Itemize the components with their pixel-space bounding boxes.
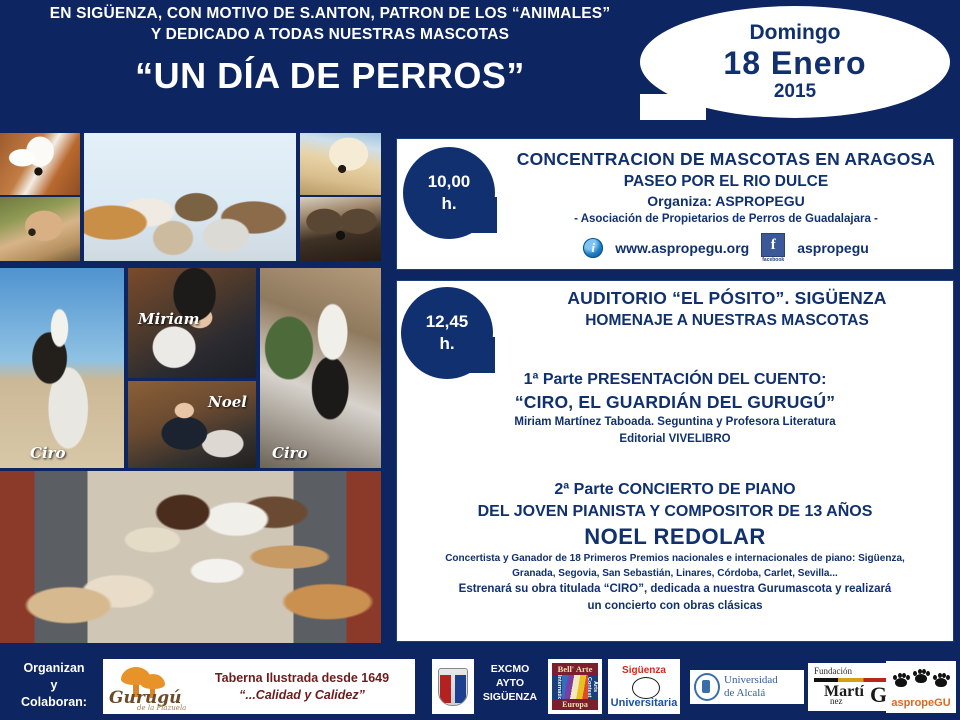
part2-label: 2ª Parte CONCIERTO DE PIANO [407,479,943,501]
time-badge-circle: 12,45 h. [401,287,493,379]
date-badge: Domingo 18 Enero 2015 [640,6,950,118]
ayto-line-2: AYTO [474,676,546,690]
paw-prints-icon [886,667,956,693]
gurugu-subtitle: de la Plazuela [137,704,186,712]
photo-cavalier-puppy [0,133,80,195]
time-badge-unit: h. [441,193,456,215]
event-1-organizer-full: - Asociación de Propietarios de Perros d… [507,211,945,228]
event-card-concentracion: 10,00 h. CONCENTRACION DE MASCOTAS EN AR… [396,138,954,270]
siguenza-universitaria-bottom: Universitaria [608,697,680,709]
fundacion-g: G [870,682,887,708]
taberna-line-1: Taberna Ilustrada desde 1649 [189,670,415,687]
event-2-part1: 1ª Parte PRESENTACIÓN DEL CUENTO: “CIRO,… [407,369,943,448]
photo-shepherd-puppy [300,197,381,261]
organizers-label: Organizan y Colaboran: [8,660,100,711]
event-1-content: CONCENTRACION DE MASCOTAS EN ARAGOSA PAS… [507,148,945,263]
event-1-subheading: PASEO POR EL RIO DULCE [507,171,945,192]
date-weekday: Domingo [750,21,841,45]
logo-gurugu-taberna[interactable]: Gurugú de la Plazuela Taberna Ilustrada … [103,659,415,714]
caption-ciro-window: Ciro [272,444,308,462]
mushroom-cap [141,674,165,689]
taberna-line-2: “...Calidad y Calidez” [189,687,415,704]
collage-row-bottom [0,471,381,646]
photo-dog-group [84,133,296,261]
siguenza-universitaria-top: Sigüenza [608,665,680,676]
time-badge-value: 12,45 [426,311,469,333]
logo-siguenza-universitaria[interactable]: Sigüenza Universitaria [608,659,680,714]
alcala-crest-icon [694,673,720,701]
part2-bio-line-3: Estrenará su obra titulada “CIRO”, dedic… [407,581,943,598]
alcala-text: Universidad de Alcalá [724,674,778,700]
paw-icon [913,669,929,683]
photo-collage: Ciro Miriam Noel Ciro [0,131,381,652]
part2-name: NOEL REDOLAR [407,523,943,551]
photo-dogs-on-steps [0,471,381,643]
header-line-1: EN SIGÜENZA, CON MOTIVO DE S.ANTON, PATR… [0,4,660,24]
poster-root: EN SIGÜENZA, CON MOTIVO DE S.ANTON, PATR… [0,0,960,720]
collage-row-top [0,131,381,265]
header-line-2: Y DEDICADO A TODAS NUESTRAS MASCOTAS [0,24,660,46]
event-1-links: i www.aspropegu.org f facebook aspropegu [507,233,945,263]
alcala-line-2: de Alcalá [724,687,778,700]
logo-bell-arte-europa[interactable]: International Arts Contest Bell' Arte Eu… [548,659,602,714]
photo-mastiff-puppy [0,197,80,261]
part2-bio-line-4: un concierto con obras clásicas [407,598,943,615]
logo-aspropegu[interactable]: aspropeGU [886,661,956,713]
poster-header: EN SIGÜENZA, CON MOTIVO DE S.ANTON, PATR… [0,0,960,128]
logo-universidad-alcala[interactable]: Universidad de Alcalá [690,670,804,704]
time-badge-1245: 12,45 h. [401,287,493,379]
aspropegu-wordmark: aspropeGU [886,697,956,709]
collage-row-middle: Ciro Miriam Noel Ciro [0,268,381,468]
facebook-icon-wrap: f facebook [761,233,785,263]
date-year: 2015 [774,81,816,103]
part2-bio-line-2: Granada, Segovia, San Sebastián, Linares… [407,566,943,581]
siguenza-figure-icon [632,677,660,699]
time-badge-circle: 10,00 h. [403,147,495,239]
bellarte-top-text: Bell' Arte [552,663,598,675]
organizers-label-line-1: Organizan [8,660,100,677]
logo-ayuntamiento-siguenza[interactable] [432,659,474,714]
ayto-line-1: EXCMO [474,662,546,676]
bellarte-bottom-text: Europa [552,699,598,710]
bellarte-right-text: Arts Contest [588,675,598,699]
date-day-month: 18 Enero [723,45,866,81]
part2-sub: DEL JOVEN PIANISTA Y COMPOSITOR DE 13 AÑ… [407,501,943,523]
part1-author: Miriam Martínez Taboada. Seguntina y Pro… [407,414,943,431]
alcala-line-1: Universidad [724,674,778,687]
event-2-subheading: HOMENAJE A NUESTRAS MASCOTAS [509,310,945,331]
taberna-text: Taberna Ilustrada desde 1649 “...Calidad… [189,670,415,704]
organizers-label-line-2: y [8,677,100,694]
caption-ciro-beach: Ciro [30,444,66,462]
time-badge-1000: 10,00 h. [403,147,495,239]
info-icon: i [583,238,603,258]
caption-miriam: Miriam [138,310,200,328]
mushroom-icon: Gurugú de la Plazuela [103,661,189,713]
event-card-auditorio: 12,45 h. AUDITORIO “EL PÓSITO”. SIGÜENZA… [396,280,954,642]
photo-ciro-window [260,268,381,468]
event-2-heading: AUDITORIO “EL PÓSITO”. SIGÜENZA [509,287,945,310]
photo-ciro-beach [0,268,124,468]
ayuntamiento-text: EXCMO AYTO SIGÜENZA [474,662,546,704]
organizers-label-line-3: Colaboran: [8,694,100,711]
part2-bio-line-1: Concertista y Ganador de 18 Primeros Pre… [407,551,943,566]
part1-publisher: Editorial VIVELIBRO [407,431,943,448]
part1-title: “CIRO, EL GUARDIÁN DEL GURUGÚ” [407,391,943,414]
fundacion-label: Fundación [814,666,852,676]
fundacion-nez: nez [830,696,843,706]
facebook-icon: f [761,233,785,257]
paw-icon [893,673,909,687]
page-title: “UN DÍA DE PERROS” [0,55,660,97]
ayto-line-3: SIGÜENZA [474,690,546,704]
event-1-heading: CONCENTRACION DE MASCOTAS EN ARAGOSA [507,148,945,171]
caption-noel: Noel [208,393,247,411]
website-link[interactable]: www.aspropegu.org [615,240,749,256]
header-text-block: EN SIGÜENZA, CON MOTIVO DE S.ANTON, PATR… [0,4,660,97]
time-badge-unit: h. [439,333,454,355]
event-2-header: AUDITORIO “EL PÓSITO”. SIGÜENZA HOMENAJE… [509,287,945,331]
photo-golden-retriever [300,133,381,195]
bellarte-left-text: International [552,675,562,699]
event-1-organizer: Organiza: ASPROPEGU [507,192,945,211]
event-2-part2: 2ª Parte CONCIERTO DE PIANO DEL JOVEN PI… [407,479,943,615]
coat-of-arms-icon [438,668,468,706]
time-badge-value: 10,00 [428,171,471,193]
paw-icon [933,673,949,687]
facebook-link[interactable]: aspropegu [797,240,869,256]
facebook-icon-caption: facebook [762,257,784,263]
